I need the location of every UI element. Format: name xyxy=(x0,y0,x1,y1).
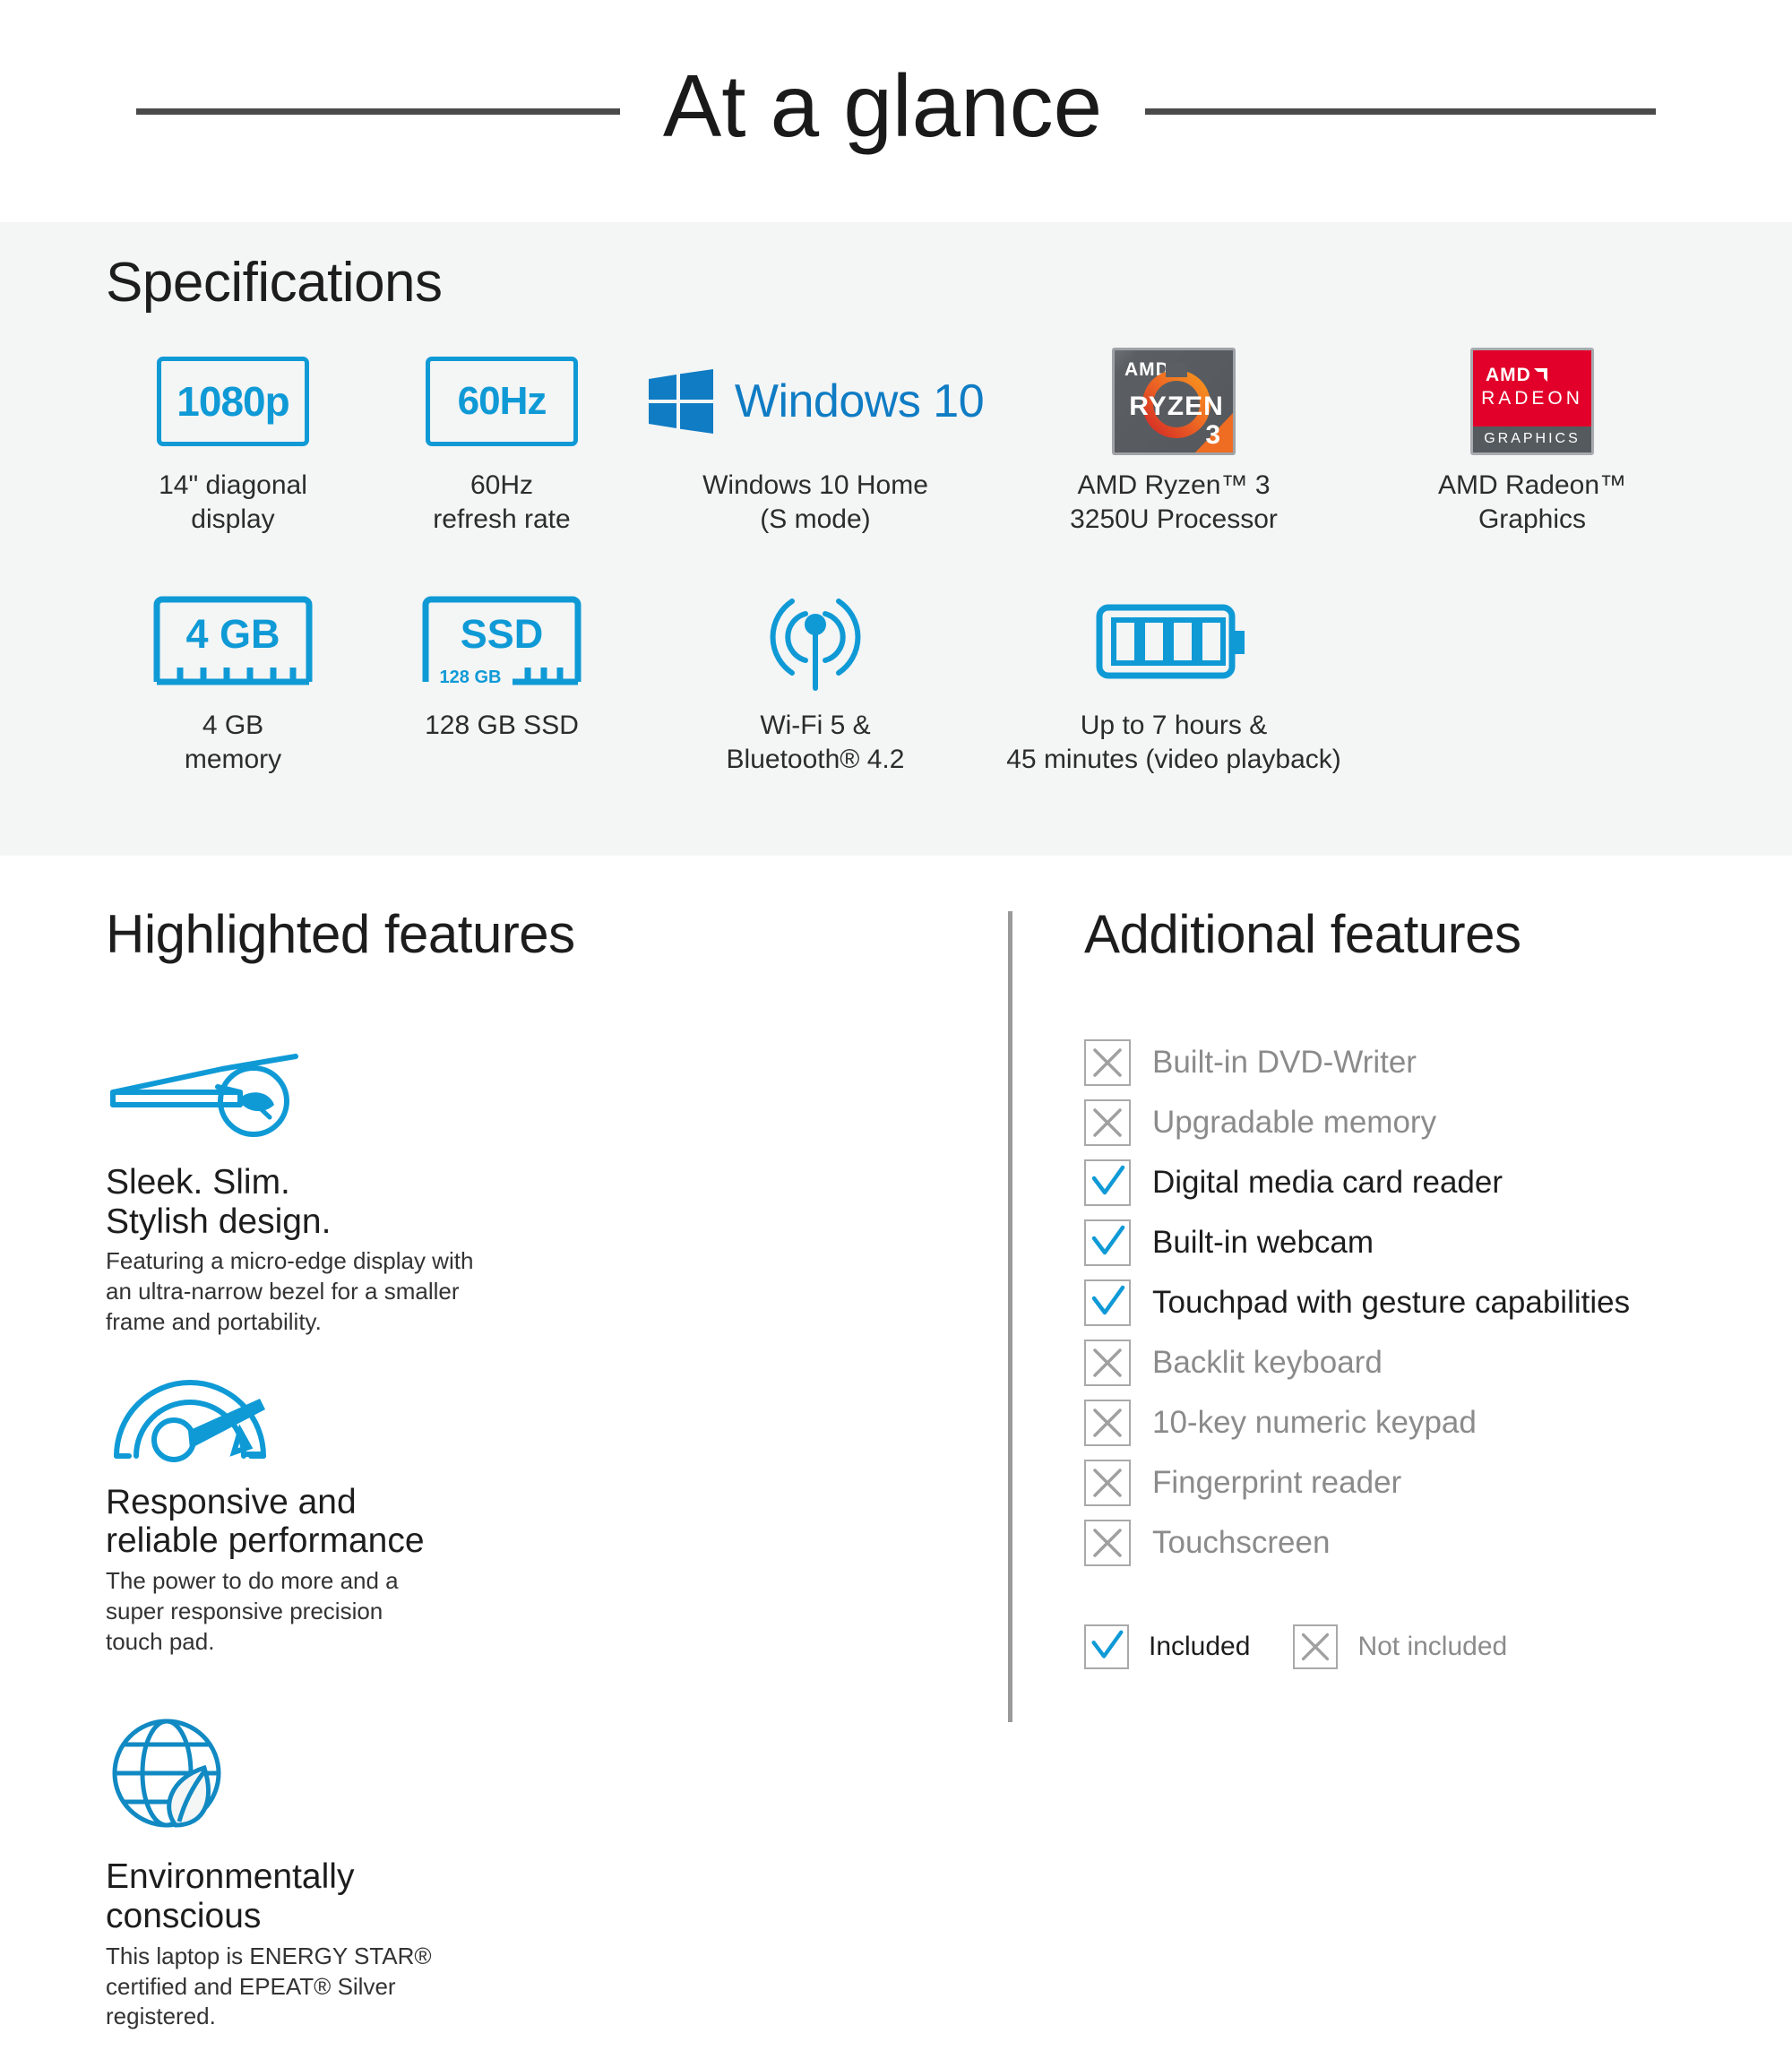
spec-item-os: Windows 10 Windows 10 Home (S mode) xyxy=(636,340,995,538)
feature-responsive-performance: Responsive and reliable performance The … xyxy=(106,1365,491,1658)
list-item: Upgradable memory xyxy=(1084,1092,1765,1152)
features-legend: Included Not included xyxy=(1084,1624,1765,1669)
check-icon xyxy=(1084,1624,1129,1669)
feature-heading: Environmentally conscious xyxy=(106,1857,491,1935)
windows-wordmark: Windows 10 xyxy=(735,375,984,428)
wifi-signal-icon xyxy=(735,585,896,697)
amd-radeon-chip-icon: AMD RADEON GRAPHICS xyxy=(1470,348,1594,455)
feature-body: Featuring a micro-edge display with an u… xyxy=(106,1246,491,1337)
battery-icon xyxy=(1090,591,1257,692)
specifications-row-2: 4 GB 4 GB memory SSD 128 GB xyxy=(99,581,1720,778)
spec-item-graphics: AMD RADEON GRAPHICS AMD Radeon™ Graphics xyxy=(1353,340,1711,538)
memory-module-icon: 4 GB xyxy=(150,592,316,691)
specifications-section: Specifications 1080p 14" diagonal displa… xyxy=(0,222,1792,856)
amd-wordmark-radeon: AMD xyxy=(1486,365,1531,386)
spec-label-memory: 4 GB memory xyxy=(185,709,281,778)
radeon-graphics-wordmark: GRAPHICS xyxy=(1484,431,1581,446)
feature-label: Backlit keyboard xyxy=(1152,1347,1383,1378)
spec-label-refresh-rate: 60Hz refresh rate xyxy=(433,469,570,538)
check-icon xyxy=(1084,1279,1131,1326)
feature-heading: Responsive and reliable performance xyxy=(106,1483,491,1561)
legend-label-included: Included xyxy=(1149,1632,1250,1662)
feature-label: Built-in DVD-Writer xyxy=(1152,1047,1417,1078)
spec-label-display: 14" diagonal display xyxy=(159,469,307,538)
memory-badge-text: 4 GB xyxy=(185,611,280,657)
page-header: At a glance xyxy=(0,0,1792,222)
check-icon xyxy=(1084,1159,1131,1206)
spec-label-wireless: Wi-Fi 5 & Bluetooth® 4.2 xyxy=(727,709,905,778)
header-rule-right xyxy=(1145,108,1656,115)
additional-features-list: Built-in DVD-Writer Upgradable memory Di… xyxy=(1084,1032,1765,1572)
spec-item-display: 1080p 14" diagonal display xyxy=(99,340,367,538)
ssd-capacity-text: 128 GB xyxy=(440,668,502,687)
list-item: Backlit keyboard xyxy=(1084,1332,1765,1392)
cross-icon xyxy=(1084,1520,1131,1566)
feature-label: Touchpad with gesture capabilities xyxy=(1152,1287,1630,1318)
feature-body: This laptop is ENERGY STAR® certified an… xyxy=(106,1942,491,2032)
ssd-badge-text: SSD xyxy=(461,611,544,657)
list-item: Digital media card reader xyxy=(1084,1152,1765,1212)
vertical-divider xyxy=(1008,911,1012,1722)
spec-item-memory: 4 GB 4 GB memory xyxy=(99,581,367,778)
display-resolution-icon: 1080p xyxy=(157,340,309,461)
amd-ryzen-chip-icon: AMD xyxy=(1112,348,1236,455)
cross-icon xyxy=(1084,1460,1131,1506)
ryzen-tier-number: 3 xyxy=(1205,420,1220,451)
feature-label: Built-in webcam xyxy=(1152,1227,1374,1258)
speedometer-icon xyxy=(106,1366,289,1463)
ssd-storage-icon: SSD 128 GB xyxy=(418,592,585,691)
list-item: Touchpad with gesture capabilities xyxy=(1084,1272,1765,1332)
spec-label-os: Windows 10 Home (S mode) xyxy=(702,469,928,538)
feature-label: Upgradable memory xyxy=(1152,1107,1436,1138)
amd-arrow-glyph-radeon xyxy=(1534,368,1547,382)
refresh-rate-badge: 60Hz xyxy=(426,357,578,446)
slim-laptop-feather-icon xyxy=(106,1049,312,1143)
refresh-rate-icon: 60Hz xyxy=(426,340,578,461)
highlighted-features-grid: Sleek. Slim. Stylish design. Featuring a… xyxy=(106,1045,966,2059)
legend-not-included: Not included xyxy=(1293,1624,1507,1669)
feature-body: The power to do more and a super respons… xyxy=(106,1566,491,1657)
windows-flag-glyph xyxy=(647,367,715,435)
cross-icon xyxy=(1084,1099,1131,1146)
spec-label-graphics: AMD Radeon™ Graphics xyxy=(1438,469,1626,538)
legend-label-not-included: Not included xyxy=(1357,1632,1507,1662)
header-rule-left xyxy=(136,108,620,115)
highlighted-features-section: Highlighted features xyxy=(106,906,966,2059)
globe-leaf-icon xyxy=(106,1712,249,1838)
specifications-title: Specifications xyxy=(106,251,443,314)
spec-label-storage: 128 GB SSD xyxy=(425,709,579,743)
spec-item-battery: Up to 7 hours & 45 minutes (video playba… xyxy=(995,581,1353,778)
cross-icon xyxy=(1293,1624,1338,1669)
windows-logo-icon: Windows 10 xyxy=(647,367,984,435)
spec-label-battery: Up to 7 hours & 45 minutes (video playba… xyxy=(1006,709,1341,778)
feature-sleek-slim: Sleek. Slim. Stylish design. Featuring a… xyxy=(106,1045,491,1338)
list-item: Touchscreen xyxy=(1084,1512,1765,1572)
spec-item-processor: AMD xyxy=(995,340,1353,538)
list-item: Fingerprint reader xyxy=(1084,1452,1765,1512)
highlighted-features-title: Highlighted features xyxy=(106,906,966,962)
lower-section: Highlighted features xyxy=(0,856,1792,1792)
feature-label: Digital media card reader xyxy=(1152,1167,1503,1198)
additional-features-section: Additional features Built-in DVD-Writer … xyxy=(1084,906,1765,1669)
feature-heading: Sleek. Slim. Stylish design. xyxy=(106,1163,491,1241)
check-icon xyxy=(1084,1219,1131,1266)
list-item: 10-key numeric keypad xyxy=(1084,1392,1765,1452)
feature-label: Fingerprint reader xyxy=(1152,1467,1401,1498)
spec-item-refresh-rate: 60Hz 60Hz refresh rate xyxy=(367,340,636,538)
legend-included: Included xyxy=(1084,1624,1250,1669)
feature-environmentally-conscious: Environmentally conscious This laptop is… xyxy=(106,1739,491,2032)
cross-icon xyxy=(1084,1340,1131,1386)
cross-icon xyxy=(1084,1039,1131,1086)
list-item: Built-in webcam xyxy=(1084,1212,1765,1272)
cross-icon xyxy=(1084,1400,1131,1446)
feature-label: Touchscreen xyxy=(1152,1527,1330,1558)
additional-features-title: Additional features xyxy=(1084,906,1765,962)
spec-item-wireless: Wi-Fi 5 & Bluetooth® 4.2 xyxy=(636,581,995,778)
resolution-badge: 1080p xyxy=(157,357,309,446)
radeon-wordmark: RADEON xyxy=(1481,388,1583,409)
specifications-row-1: 1080p 14" diagonal display 60Hz 60Hz ref… xyxy=(99,340,1720,538)
spec-label-processor: AMD Ryzen™ 3 3250U Processor xyxy=(1070,469,1278,538)
list-item: Built-in DVD-Writer xyxy=(1084,1032,1765,1092)
spec-item-storage: SSD 128 GB 128 GB SSD xyxy=(367,581,636,778)
page-title: At a glance xyxy=(663,62,1102,160)
feature-label: 10-key numeric keypad xyxy=(1152,1407,1477,1438)
